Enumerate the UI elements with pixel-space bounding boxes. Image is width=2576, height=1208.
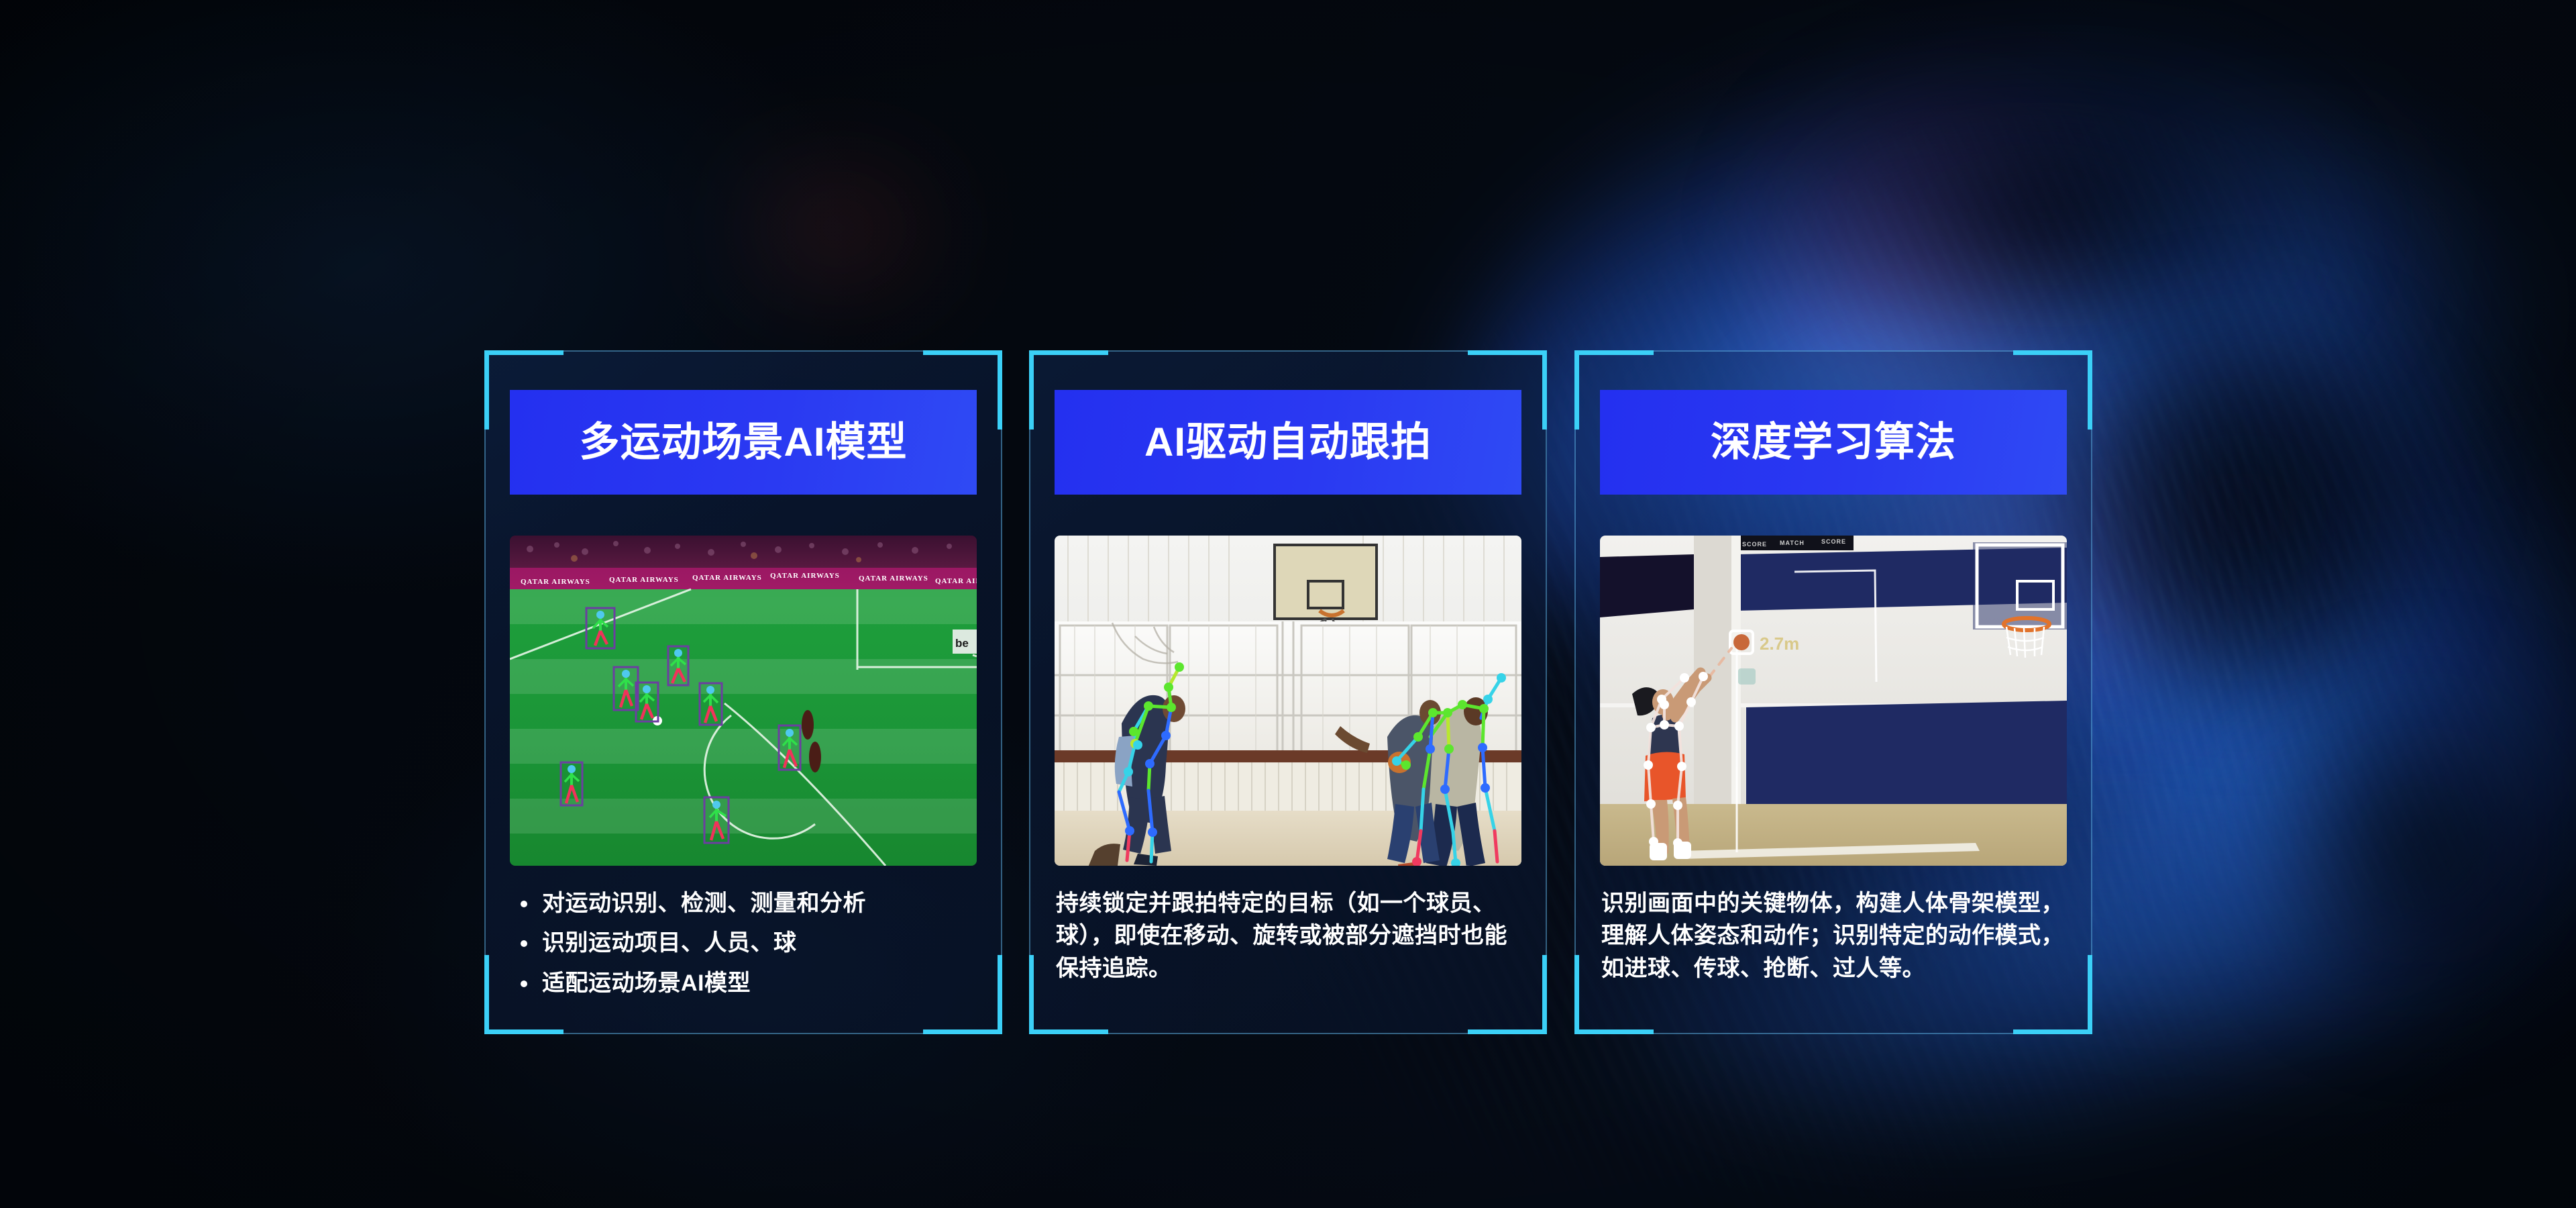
list-item: 对运动识别、检测、测量和分析 (511, 887, 981, 919)
svg-text:QATAR AIR: QATAR AIR (935, 577, 977, 585)
card-title-bar: AI驱动自动跟拍 (1055, 390, 1521, 495)
gym-basketball-illustration (1055, 536, 1521, 866)
card-title-text: 深度学习算法 (1711, 422, 1956, 462)
feature-card-ai-auto-tracking[interactable]: AI驱动自动跟拍 (1029, 350, 1547, 1034)
scoreboard-label-match: MATCH (1780, 540, 1805, 546)
svg-text:be: be (955, 637, 969, 650)
basketball-gym-pose-tracking-thumbnail[interactable] (1055, 536, 1521, 866)
list-item: 识别运动项目、人员、球 (511, 927, 981, 959)
card-frame-left (1029, 350, 1030, 1034)
card-body: 持续锁定并跟拍特定的目标（如一个球员、球），即使在移动、旋转或被部分遮挡时也能保… (1056, 887, 1525, 985)
card-body: 对运动识别、检测、测量和分析 识别运动项目、人员、球 适配运动场景AI模型 (511, 887, 981, 1007)
card-description: 持续锁定并跟拍特定的目标（如一个球员、球），即使在移动、旋转或被部分遮挡时也能保… (1056, 887, 1525, 985)
soccer-field-illustration: QATAR AIRWAYS QATAR AIRWAYS QATAR AIRWAY… (510, 536, 977, 866)
feature-card-multi-sport-ai-model[interactable]: 多运动场景AI模型 (484, 350, 1002, 1034)
list-item: 适配运动场景AI模型 (511, 967, 981, 999)
svg-text:QATAR AIRWAYS: QATAR AIRWAYS (521, 578, 590, 586)
scoreboard-label-score-left: SCORE (1742, 541, 1767, 548)
card-frame-left (484, 350, 486, 1034)
card-title-text: 多运动场景AI模型 (580, 422, 908, 462)
card-body: 识别画面中的关键物体，构建人体骨架模型，理解人体姿态和动作；识别特定的动作模式，… (1601, 887, 2071, 985)
card-title-bar: 深度学习算法 (1600, 390, 2067, 495)
scoreboard-label-score-right: SCORE (1821, 538, 1846, 545)
svg-text:QATAR AIRWAYS: QATAR AIRWAYS (770, 572, 840, 580)
card-title-text: AI驱动自动跟拍 (1144, 422, 1432, 462)
basketball-shot-distance-thumbnail[interactable]: SCORE MATCH SCORE (1600, 536, 2067, 866)
feature-card-row: 多运动场景AI模型 (0, 0, 2576, 1208)
svg-text:QATAR AIRWAYS: QATAR AIRWAYS (609, 576, 679, 584)
svg-text:QATAR AIRWAYS: QATAR AIRWAYS (692, 574, 762, 582)
card-frame-right (1001, 350, 1002, 1034)
card-title-bar: 多运动场景AI模型 (510, 390, 977, 495)
card-description: 识别画面中的关键物体，构建人体骨架模型，理解人体姿态和动作；识别特定的动作模式，… (1601, 887, 2071, 985)
feature-card-deep-learning-algorithm[interactable]: 深度学习算法 SCORE MATCH SCORE (1574, 350, 2092, 1034)
distance-label: 2.7m (1760, 634, 1799, 654)
court-shot-illustration: SCORE MATCH SCORE (1600, 536, 2067, 866)
feature-bullet-list: 对运动识别、检测、测量和分析 识别运动项目、人员、球 适配运动场景AI模型 (511, 887, 981, 999)
svg-text:QATAR AIRWAYS: QATAR AIRWAYS (859, 574, 928, 583)
card-frame-left (1574, 350, 1576, 1034)
soccer-pose-detection-thumbnail[interactable]: QATAR AIRWAYS QATAR AIRWAYS QATAR AIRWAY… (510, 536, 977, 866)
card-frame-right (2091, 350, 2092, 1034)
card-frame-right (1546, 350, 1547, 1034)
